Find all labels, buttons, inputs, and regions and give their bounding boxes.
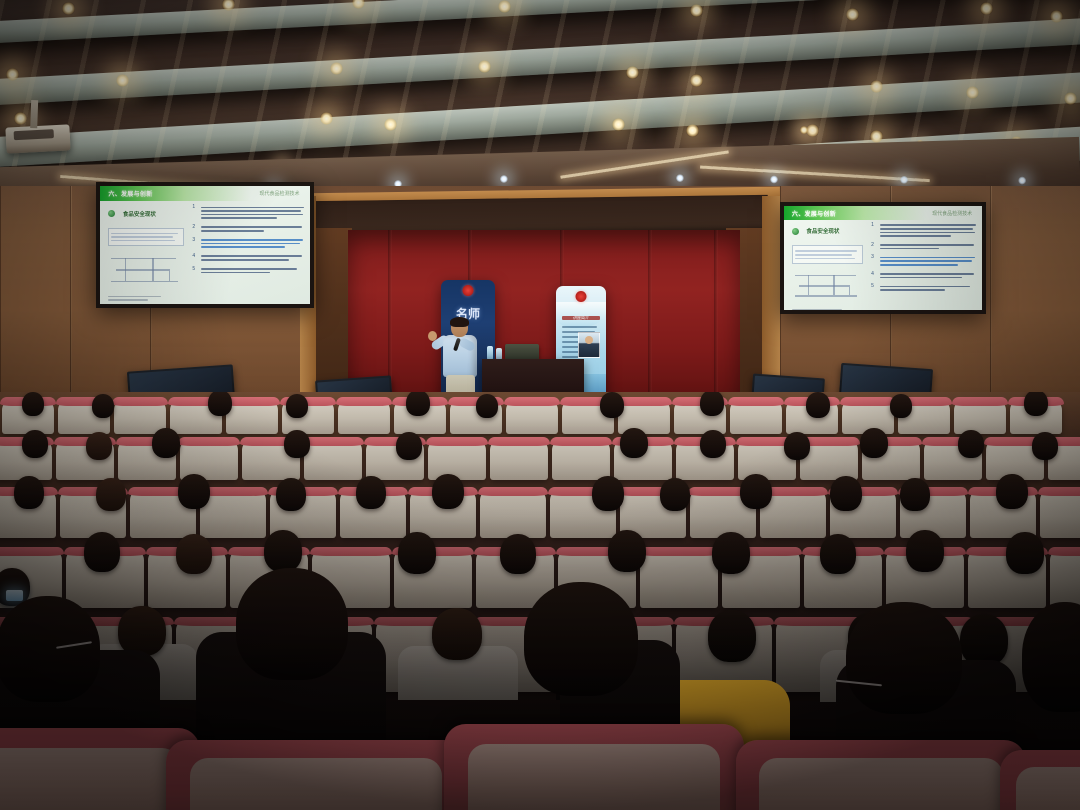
ceiling-downlight (320, 112, 333, 125)
ceiling-downlight (870, 130, 883, 143)
slide-list-number: 1 (871, 222, 877, 238)
audience-head (890, 394, 912, 418)
audience-head (96, 478, 126, 511)
audience-head (600, 392, 624, 418)
bullet-icon (108, 210, 115, 217)
audience-head (396, 432, 422, 460)
audience-head (22, 392, 44, 416)
slide-list-text (201, 224, 305, 233)
audience-head (620, 428, 648, 458)
ceiling-downlight (6, 68, 19, 81)
slide-list-item: 3 (871, 255, 978, 268)
audience-head (958, 430, 984, 458)
slide-list-text (201, 266, 305, 275)
seat (338, 400, 390, 434)
slide-list-item: 5 (192, 266, 305, 275)
ceiling-projector (5, 124, 70, 153)
slide-list-text (880, 284, 978, 293)
seat (490, 440, 548, 480)
slide-list-text (880, 242, 978, 251)
university-seal-icon (463, 285, 474, 296)
slide-data-table (792, 245, 863, 264)
seat (304, 440, 362, 480)
slide-header-title: 六、发展与创新 (792, 209, 836, 218)
slide-surface: 六、发展与创新 现代食品检测技术 食品安全现状 (784, 206, 982, 310)
ceiling-downlight (478, 60, 491, 73)
audience-head (14, 476, 44, 509)
ceiling-downlight (846, 8, 859, 21)
slide-flow-diagram (108, 252, 184, 289)
slide-list-text (880, 222, 978, 238)
curtain-fold (714, 230, 718, 400)
slide-list-number: 2 (192, 224, 198, 233)
proscenium-right-column (762, 196, 780, 396)
speaker-portrait (578, 332, 600, 358)
slide-header-title: 六、发展与创新 (108, 189, 152, 198)
seat (954, 400, 1006, 434)
ceiling-downlight (980, 2, 993, 15)
ceiling-downlight (1050, 10, 1063, 23)
slide-list-item: 3 (192, 237, 305, 250)
foreground-row (0, 540, 1080, 810)
ceiling-downlight (1064, 92, 1077, 105)
ceiling-downlight (116, 74, 129, 87)
ceiling-downlight (690, 4, 703, 17)
foreground-seat (444, 724, 744, 810)
slide-list-number: 3 (192, 237, 198, 250)
soffit-downlight (1018, 176, 1026, 184)
slide-body: 食品安全现状 (784, 221, 982, 310)
slide-list-number: 5 (871, 284, 877, 293)
slide-list-number: 2 (871, 242, 877, 251)
ceiling-downlight (870, 80, 883, 93)
audience-head (86, 432, 112, 460)
slide-section-heading: 食品安全现状 (792, 222, 863, 240)
slide-list-item: 2 (192, 224, 305, 233)
foreground-person-head (1022, 602, 1080, 712)
speaker-hair (450, 317, 469, 327)
stage-wing-left (316, 228, 352, 400)
audience-head (700, 430, 726, 458)
soffit-downlight (900, 176, 908, 184)
audience-head (996, 474, 1028, 509)
slide-section-heading: 食品安全现状 (108, 205, 184, 223)
soffit-downlight (676, 174, 684, 182)
ceiling-downlight (330, 62, 343, 75)
foreground-seat (1000, 750, 1080, 810)
presenter-laptop (505, 344, 539, 360)
audience-head (830, 476, 862, 511)
cove-light-strip (560, 150, 729, 178)
slide-list-item: 4 (192, 253, 305, 262)
slide-data-table (108, 228, 184, 247)
slide-body: 食品安全现状 (100, 203, 310, 304)
projection-screen-left[interactable]: 六、发展与创新 现代食品检测技术 食品安全现状 (96, 182, 314, 308)
speaker (437, 318, 485, 402)
audience-head (152, 428, 180, 458)
slide-section-title: 食品安全现状 (123, 211, 156, 217)
slide-list-item: 4 (871, 271, 978, 280)
audience-head (806, 392, 830, 418)
seat (480, 490, 546, 538)
foreground-seat (736, 740, 1026, 810)
audience-head (1024, 392, 1048, 416)
seat (552, 440, 610, 480)
slide-section-title: 食品安全现状 (806, 229, 839, 235)
audience-head (286, 394, 308, 418)
cove-light-strip (700, 166, 930, 183)
ceiling-downlight (612, 118, 625, 131)
slide-left-column: 食品安全现状 (108, 205, 184, 298)
audience-head (22, 430, 48, 458)
university-seal-icon (576, 291, 587, 302)
slide-list-text (880, 255, 978, 268)
slide-list-text (201, 253, 305, 262)
audience-head (432, 474, 464, 509)
audience-head (740, 474, 772, 509)
soffit-downlight (500, 175, 508, 183)
audience-head (406, 392, 430, 416)
slide-list-item: 1 (871, 222, 978, 238)
audience-head (784, 432, 810, 460)
seat (1040, 490, 1080, 538)
slide-list-number: 1 (192, 205, 198, 221)
audience-head (276, 478, 306, 511)
ceiling-downlight (498, 0, 511, 13)
ceiling-downlight (14, 112, 27, 125)
slide-list-text (880, 271, 978, 280)
seat (226, 400, 278, 434)
ceiling-downlight (626, 66, 639, 79)
speaker-left-hand (428, 331, 437, 341)
slide-left-column: 食品安全现状 (792, 222, 863, 304)
slide-list-item: 5 (871, 284, 978, 293)
audience-head (178, 474, 210, 509)
auditorium-photo: 六、发展与创新 现代食品检测技术 食品安全现状 (0, 0, 1080, 810)
slide-surface: 六、发展与创新 现代食品检测技术 食品安全现状 (100, 186, 310, 304)
slide-figure-caption (792, 309, 863, 310)
audience-head (700, 392, 724, 416)
ceiling-downlight (384, 118, 397, 131)
bullet-icon (792, 228, 799, 235)
seat (730, 400, 782, 434)
audience-head (284, 430, 310, 458)
banner-right-headline: 讲座简介 (562, 316, 600, 320)
ceiling-downlight (686, 124, 699, 137)
slide-flow-diagram (792, 270, 863, 303)
soffit-downlight (770, 175, 778, 183)
audience-head (1032, 432, 1058, 460)
slide-figure-caption (108, 296, 184, 301)
slide-header-subtitle: 现代食品检测技术 (259, 190, 299, 197)
slide-list-text (201, 237, 305, 250)
slide-header-subtitle: 现代食品检测技术 (932, 210, 972, 217)
audience-head (208, 392, 232, 416)
foreground-seat (166, 740, 466, 810)
foreground-person-head (524, 582, 638, 696)
audience-head (860, 428, 888, 458)
ceiling-downlight (62, 2, 75, 15)
projection-screen-right[interactable]: 六、发展与创新 现代食品检测技术 食品安全现状 (780, 202, 986, 314)
slide-list-item: 1 (192, 205, 305, 221)
audience-head (356, 476, 386, 509)
curtain-fold (648, 230, 652, 400)
slide-list-number: 4 (871, 271, 877, 280)
slide-right-column: 1 2 (871, 222, 978, 306)
ceiling-downlight (690, 74, 703, 87)
slide-list-number: 4 (192, 253, 198, 262)
seat (428, 440, 486, 480)
banner-wave-graphic (556, 302, 606, 328)
seat (506, 400, 558, 434)
audience-head (92, 394, 114, 418)
slide-right-column: 1 2 (192, 205, 305, 300)
slide-list-text (201, 205, 305, 221)
audience-head (660, 478, 690, 511)
audience-head (476, 394, 498, 418)
foreground-person-head (846, 602, 962, 714)
audience-head (900, 478, 930, 511)
foreground-person-head (0, 596, 100, 702)
ceiling-downlight (966, 86, 979, 99)
foreground-person-head (236, 568, 348, 680)
slide-list-number: 3 (871, 255, 877, 268)
ceiling-downlight (800, 126, 808, 134)
slide-list-item: 2 (871, 242, 978, 251)
slide-list-number: 5 (192, 266, 198, 275)
seat (200, 490, 266, 538)
audience-head (592, 476, 624, 511)
